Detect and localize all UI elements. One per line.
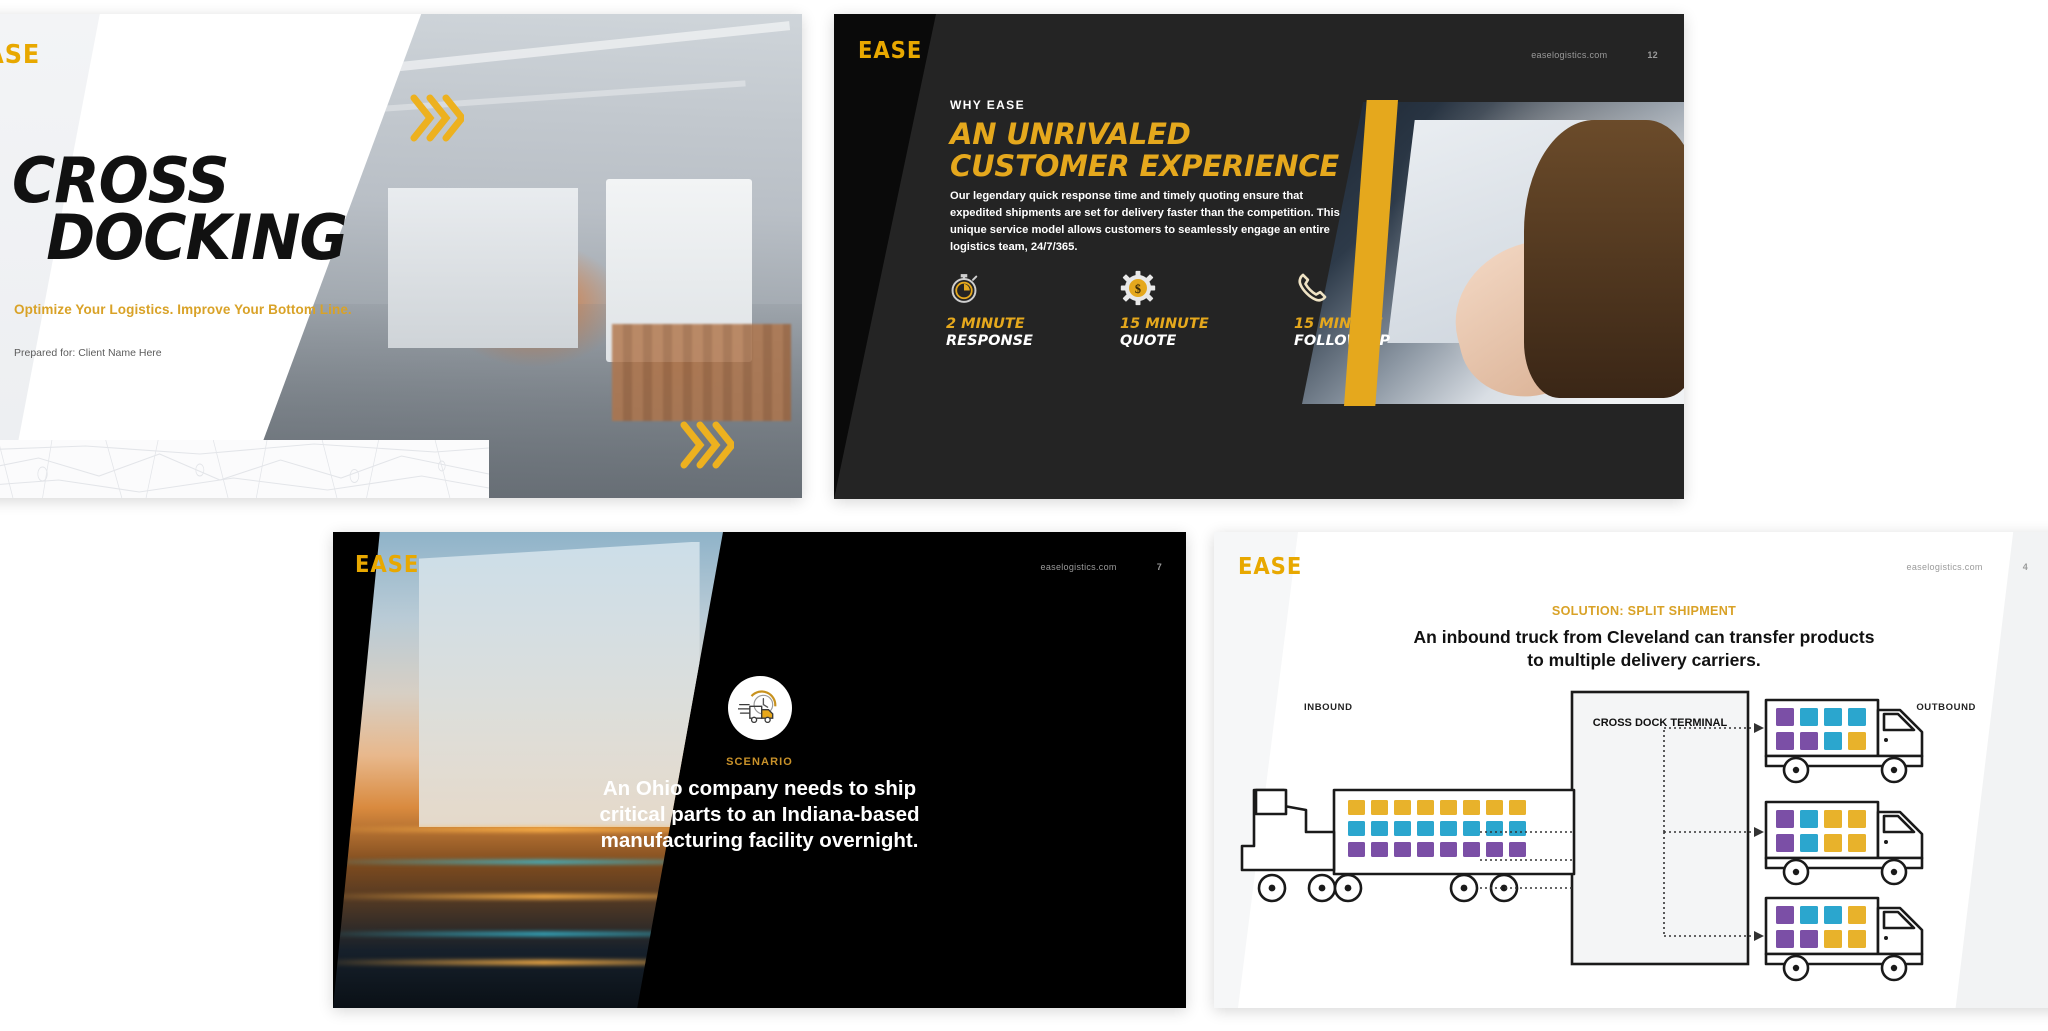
outbound-cargo-box	[1776, 810, 1794, 828]
photo-light-streak-2	[333, 860, 778, 864]
stopwatch-icon	[946, 270, 1064, 308]
page-number: 12	[1647, 50, 1658, 60]
slide2-eyebrow: WHY EASE	[950, 98, 1025, 112]
inbound-cargo-box	[1486, 821, 1503, 836]
chevron-decor-top	[408, 92, 464, 149]
ease-logo[interactable]: EASE	[0, 40, 40, 70]
site-url: easelogistics.com	[1531, 50, 1607, 60]
site-url: easelogistics.com	[1907, 562, 1983, 572]
outbound-cargo-box	[1800, 708, 1818, 726]
outbound-cargo-box	[1848, 834, 1866, 852]
inbound-cargo-box	[1509, 842, 1526, 857]
slide1-subtitle: Optimize Your Logistics. Improve Your Bo…	[14, 302, 352, 317]
inbound-cargo-box	[1371, 842, 1388, 857]
slide3-kicker: SCENARIO	[333, 756, 1186, 768]
stat-quote-label: QUOTE	[1120, 333, 1238, 350]
stat-quote-value: 15 MINUTE	[1120, 316, 1238, 333]
slide-cross-docking[interactable]: EASE CROSS DOCKING Optimize Your Logisti…	[0, 14, 802, 498]
photo-light-streak-3	[333, 894, 778, 899]
slide-scenario[interactable]: EASE easelogistics.com 7 SCENARIO An Ohi…	[333, 532, 1186, 1008]
cross-dock-diagram: CROSS DOCK TERMINAL	[1214, 682, 2048, 982]
inbound-cargo-box	[1348, 842, 1365, 857]
outbound-cargo-box	[1776, 834, 1794, 852]
outbound-cargo-box	[1800, 732, 1818, 750]
inbound-cargo-box	[1371, 800, 1388, 815]
stat-response-label: RESPONSE	[946, 333, 1064, 350]
outbound-cargo-box	[1848, 906, 1866, 924]
slide3-message: An Ohio company needs to ship critical p…	[595, 776, 925, 855]
slide-why-ease[interactable]: EASE easelogistics.com 12 WHY EASE AN UN…	[834, 14, 1684, 499]
site-url: easelogistics.com	[1041, 562, 1117, 572]
inbound-cargo-box	[1417, 800, 1434, 815]
street-map-pattern	[0, 440, 489, 498]
outbound-cargo-box	[1776, 708, 1794, 726]
photo-light-streak-4	[333, 932, 778, 936]
slide2-headline-line1: AN UNRIVALED	[950, 118, 1380, 150]
inbound-cargo-box	[1348, 800, 1365, 815]
slide1-title: CROSS DOCKING	[12, 152, 421, 266]
outbound-cargo-box	[1824, 732, 1842, 750]
inbound-cargo-box	[1509, 800, 1526, 815]
inbound-cargo-box	[1371, 821, 1388, 836]
stat-response-value: 2 MINUTE	[946, 316, 1064, 333]
outbound-cargo-box	[1848, 810, 1866, 828]
outbound-cargo-box	[1824, 930, 1842, 948]
terminal-box	[1572, 692, 1748, 964]
stat-quote: $ 15 MINUTE QUOTE	[1120, 270, 1238, 350]
slide4-headline: An inbound truck from Cleveland can tran…	[1404, 626, 1884, 672]
outbound-cargo-box	[1800, 834, 1818, 852]
inbound-cargo-box	[1463, 800, 1480, 815]
inbound-cargo-box	[1440, 842, 1457, 857]
inbound-cargo-box	[1463, 821, 1480, 836]
slide4-header-meta: easelogistics.com 4	[1907, 562, 2028, 572]
svg-text:$: $	[1135, 282, 1141, 296]
slide2-stats-row: 2 MINUTE RESPONSE	[946, 270, 1412, 350]
outbound-cargo-box	[1848, 708, 1866, 726]
slide2-body-copy: Our legendary quick response time and ti…	[950, 188, 1350, 257]
inbound-cargo-box	[1417, 842, 1434, 857]
slide1-title-line2: DOCKING	[12, 209, 421, 266]
outbound-cargo-box	[1776, 930, 1794, 948]
inbound-cargo-box	[1394, 821, 1411, 836]
outbound-cargo-box	[1824, 810, 1842, 828]
outbound-cargo-box	[1776, 906, 1794, 924]
truck-clock-icon	[728, 676, 792, 740]
stat-response: 2 MINUTE RESPONSE	[946, 270, 1064, 350]
inbound-cargo-box	[1394, 842, 1411, 857]
outbound-cargo-box	[1800, 906, 1818, 924]
slide1-prepared-for: Prepared for: Client Name Here	[14, 347, 162, 359]
slide3-header-meta: easelogistics.com 7	[1041, 562, 1162, 572]
chevron-decor-bottom	[678, 419, 734, 476]
photo-light-streak-5	[333, 960, 778, 965]
photo-pallets	[612, 324, 791, 421]
slide2-header-meta: easelogistics.com 12	[1531, 50, 1658, 60]
outbound-cargo-box	[1824, 834, 1842, 852]
inbound-cargo-box	[1509, 821, 1526, 836]
page-number: 7	[1157, 562, 1162, 572]
terminal-label: CROSS DOCK TERMINAL	[1593, 717, 1728, 729]
slide4-kicker: SOLUTION: SPLIT SHIPMENT	[1214, 604, 2048, 618]
slide2-headline: AN UNRIVALED CUSTOMER EXPERIENCE	[950, 118, 1380, 183]
slide-split-shipment[interactable]: EASE easelogistics.com 4 SOLUTION: SPLIT…	[1214, 532, 2048, 1008]
outbound-cargo-box	[1824, 906, 1842, 924]
outbound-cargo-box	[1800, 930, 1818, 948]
outbound-cargo-box	[1848, 930, 1866, 948]
outbound-cargo-box	[1848, 732, 1866, 750]
inbound-cargo-box	[1440, 800, 1457, 815]
ease-logo[interactable]: EASE	[1238, 554, 1302, 580]
slide2-headline-line2: CUSTOMER EXPERIENCE	[950, 150, 1380, 182]
inbound-cargo-box	[1394, 800, 1411, 815]
inbound-cargo-box	[1486, 842, 1503, 857]
page-number: 4	[2023, 562, 2028, 572]
route-arrowhead	[1754, 931, 1764, 941]
inbound-cargo-box	[1463, 842, 1480, 857]
inbound-cargo-box	[1417, 821, 1434, 836]
outbound-cargo-box	[1800, 810, 1818, 828]
route-arrowhead	[1754, 723, 1764, 733]
inbound-cargo-box	[1486, 800, 1503, 815]
ease-logo[interactable]: EASE	[355, 552, 419, 578]
slides-overview: EASE CROSS DOCKING Optimize Your Logisti…	[0, 0, 2048, 1031]
gear-dollar-icon: $	[1120, 270, 1238, 308]
inbound-cargo-box	[1348, 821, 1365, 836]
photo-person	[1524, 120, 1684, 398]
route-arrowhead	[1754, 827, 1764, 837]
ease-logo[interactable]: EASE	[858, 38, 922, 64]
outbound-cargo-box	[1824, 708, 1842, 726]
outbound-cargo-box	[1776, 732, 1794, 750]
inbound-cargo-box	[1440, 821, 1457, 836]
highway-motion-photo	[333, 532, 723, 1008]
